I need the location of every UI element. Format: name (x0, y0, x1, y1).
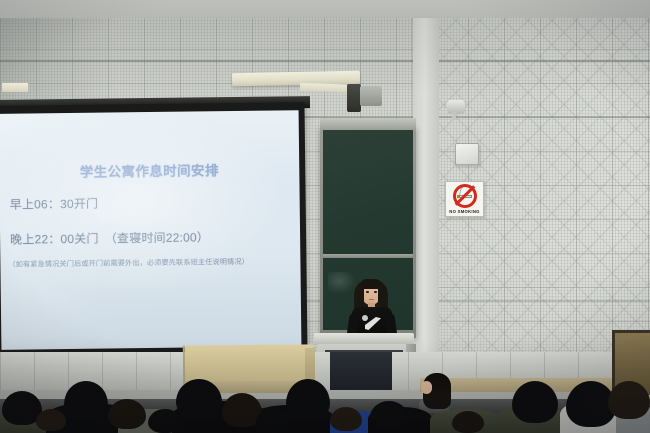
slide-footnote: （如有紧急情况关门后或开门前需要外出，必须要先联系班主任说明情况） (8, 257, 249, 270)
audience-head (108, 399, 146, 429)
audience-head (176, 379, 222, 419)
audience-head (256, 407, 292, 433)
speaker-eye-left (366, 291, 369, 293)
blackboard-rail (320, 118, 416, 130)
speaker-person (349, 277, 395, 339)
lecture-hall-photo: NO SMOKING 学生公寓作息时间安排 早上06：30开门 晚上22：00关… (0, 0, 650, 433)
audience-head (64, 381, 108, 421)
audience-head (148, 409, 182, 433)
ceiling-strip (0, 0, 650, 18)
no-smoking-label: NO SMOKING (449, 209, 479, 214)
audience-head (370, 401, 408, 429)
slide-title: 学生公寓作息时间安排 (0, 158, 299, 182)
ceiling-projector-mount (347, 84, 361, 112)
slide-line-morning: 早上06：30开门 (10, 195, 99, 213)
ceiling-light-icon (2, 83, 28, 92)
audience-head (452, 411, 484, 433)
tshirt-graphic-dot (362, 315, 368, 321)
audience-head (330, 407, 362, 431)
ceiling-projector-icon (360, 86, 382, 106)
no-smoking-sign: NO SMOKING (445, 181, 484, 217)
audience-head (286, 379, 330, 421)
audience-head (608, 381, 650, 419)
security-camera-icon (447, 100, 465, 114)
audience-rows (0, 360, 650, 433)
no-smoking-icon (453, 184, 477, 208)
slide-line-evening: 晚上22：00关门 （查寝时间22:00） (10, 228, 209, 247)
speaker-eye-right (374, 291, 377, 293)
projection-screen-frame: 学生公寓作息时间安排 早上06：30开门 晚上22：00关门 （查寝时间22:0… (0, 102, 308, 356)
wall-seam (0, 60, 650, 62)
audience-head (512, 381, 558, 423)
blackboard-divider (323, 254, 413, 258)
wall-pillar (413, 0, 439, 380)
audience-head (36, 409, 66, 431)
projection-screen: 学生公寓作息时间安排 早上06：30开门 晚上22：00关门 （查寝时间22:0… (0, 110, 301, 350)
wall-speaker-box (455, 143, 479, 165)
camera-mount (452, 112, 456, 120)
